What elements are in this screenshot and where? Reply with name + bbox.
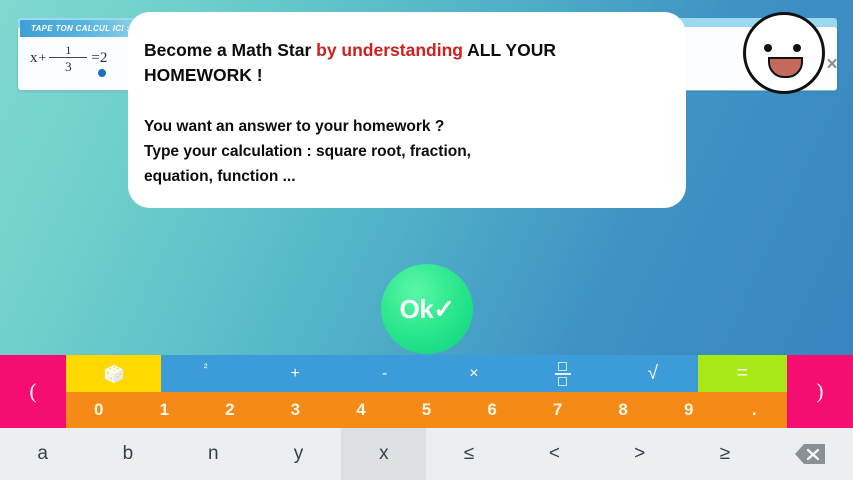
keyboard: ( bbox=[0, 355, 853, 480]
formula-variable: x bbox=[30, 50, 38, 67]
backspace-key[interactable] bbox=[768, 428, 853, 480]
bubble-body: You want an answer to your homework ?Typ… bbox=[144, 114, 668, 189]
keyboard-center: ² + - × √ = 0 1 2 3 bbox=[66, 355, 787, 428]
minus-key[interactable]: - bbox=[340, 355, 429, 392]
bubble-body-line1: You want an answer to your homework ? bbox=[144, 118, 444, 135]
number-key-3[interactable]: 3 bbox=[263, 392, 329, 428]
info-bubble: Become a Math Star by understanding ALL … bbox=[128, 12, 686, 208]
ok-button-label: Ok✓ bbox=[400, 294, 455, 325]
number-key-4[interactable]: 4 bbox=[328, 392, 394, 428]
keyboard-main-rows: ( bbox=[0, 355, 853, 428]
letter-key-x[interactable]: x bbox=[341, 428, 426, 480]
left-paren-key[interactable]: ( bbox=[0, 355, 66, 428]
backspace-icon bbox=[794, 443, 826, 465]
fraction-icon bbox=[555, 361, 571, 387]
number-row: 0 1 2 3 4 5 6 7 8 9 . bbox=[66, 392, 787, 428]
input-tab: TAPE TON CALCUL ICI : bbox=[20, 20, 141, 37]
number-key-9[interactable]: 9 bbox=[656, 392, 722, 428]
letter-key-n[interactable]: n bbox=[171, 428, 256, 480]
number-key-5[interactable]: 5 bbox=[394, 392, 460, 428]
number-key-1[interactable]: 1 bbox=[132, 392, 198, 428]
letter-key-a[interactable]: a bbox=[0, 428, 85, 480]
number-key-0[interactable]: 0 bbox=[66, 392, 132, 428]
bubble-heading: Become a Math Star by understanding ALL … bbox=[144, 38, 668, 88]
fraction-denominator: 3 bbox=[65, 58, 72, 73]
number-key-8[interactable]: 8 bbox=[590, 392, 656, 428]
fraction-key[interactable] bbox=[519, 355, 608, 392]
app-root: TAPE TON CALCUL ICI : x + 1 3 =2 Become … bbox=[0, 0, 853, 480]
square-key[interactable]: ² bbox=[161, 355, 250, 392]
smiley-mouth bbox=[768, 57, 803, 78]
bubble-heading-part1: Become a Math Star bbox=[144, 40, 316, 60]
less-than-key[interactable]: < bbox=[512, 428, 597, 480]
bubble-body-line3: equation, function ... bbox=[144, 168, 296, 185]
smiley-left-eye bbox=[764, 44, 772, 52]
right-paren-key[interactable]: ) bbox=[787, 355, 853, 428]
ok-button[interactable]: Ok✓ bbox=[381, 264, 473, 354]
close-icon[interactable]: × bbox=[824, 57, 840, 73]
dice-icon bbox=[103, 363, 125, 385]
letter-row: a b n y x ≤ < > ≥ bbox=[0, 428, 853, 480]
dice-key[interactable] bbox=[66, 355, 161, 392]
number-key-7[interactable]: 7 bbox=[525, 392, 591, 428]
formula-fraction: 1 3 bbox=[49, 44, 87, 73]
bubble-heading-highlight: by understanding bbox=[316, 40, 463, 60]
square-root-key[interactable]: √ bbox=[608, 355, 697, 392]
letter-key-y[interactable]: y bbox=[256, 428, 341, 480]
operator-row: ² + - × √ = bbox=[66, 355, 787, 392]
smiley-right-eye bbox=[793, 44, 801, 52]
bubble-body-line2: Type your calculation : square root, fra… bbox=[144, 143, 471, 160]
formula-equals: =2 bbox=[91, 50, 107, 67]
equals-key[interactable]: = bbox=[698, 355, 787, 392]
plus-key[interactable]: + bbox=[250, 355, 339, 392]
less-equal-key[interactable]: ≤ bbox=[426, 428, 511, 480]
greater-equal-key[interactable]: ≥ bbox=[682, 428, 767, 480]
decimal-point-key[interactable]: . bbox=[721, 392, 787, 428]
number-key-2[interactable]: 2 bbox=[197, 392, 263, 428]
number-key-6[interactable]: 6 bbox=[459, 392, 525, 428]
letter-key-b[interactable]: b bbox=[85, 428, 170, 480]
input-tab-label: TAPE TON CALCUL ICI : bbox=[31, 24, 129, 33]
greater-than-key[interactable]: > bbox=[597, 428, 682, 480]
formula-operator: + bbox=[39, 51, 47, 67]
fraction-numerator: 1 bbox=[65, 44, 71, 57]
formula-display: x + 1 3 =2 bbox=[30, 44, 107, 73]
caret-dot-icon bbox=[98, 69, 106, 77]
smiley-face-icon[interactable] bbox=[743, 12, 825, 94]
multiply-key[interactable]: × bbox=[429, 355, 518, 392]
